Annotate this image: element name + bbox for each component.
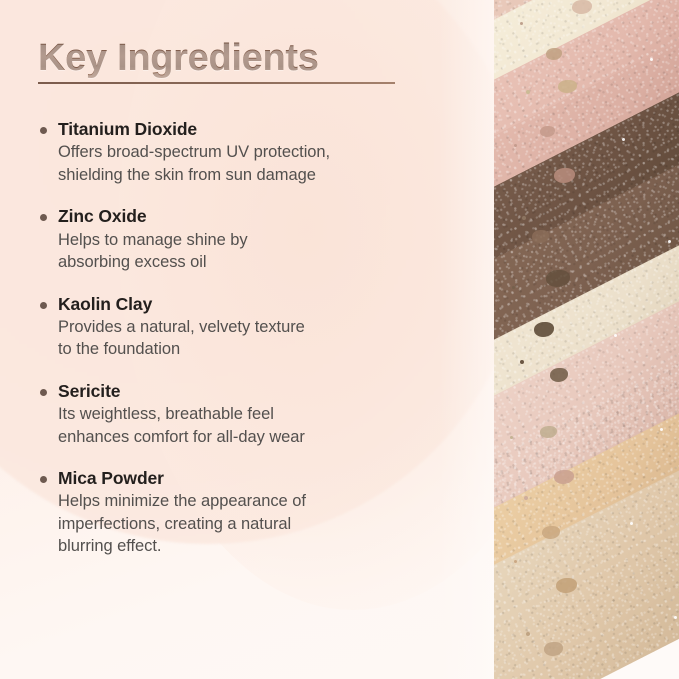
title-underline <box>38 82 395 84</box>
ingredient-description: Offers broad-spectrum UV protection, shi… <box>58 141 448 186</box>
page-title-block: Key Ingredients <box>38 38 438 84</box>
ingredient-list: Titanium Dioxide Offers broad-spectrum U… <box>38 118 448 558</box>
powder-sparkle <box>630 522 633 525</box>
bullet-icon <box>40 389 47 396</box>
bullet-icon <box>40 476 47 483</box>
powder-speck <box>520 22 523 25</box>
bullet-icon <box>40 302 47 309</box>
ingredient-name: Titanium Dioxide <box>58 118 448 140</box>
ingredient-description: Its weightless, breathable feel enhances… <box>58 403 448 448</box>
ingredient-description: Helps to manage shine by absorbing exces… <box>58 229 448 274</box>
powder-sparkle <box>650 58 653 61</box>
ingredient-description: Provides a natural, velvety texture to t… <box>58 316 448 361</box>
powder-speck <box>512 286 515 289</box>
ingredient-item-sericite: Sericite Its weightless, breathable feel… <box>38 380 448 448</box>
powder-speck <box>510 436 513 439</box>
powder-sparkle <box>622 138 625 141</box>
bullet-icon <box>40 127 47 134</box>
powder-speck <box>520 360 524 364</box>
powder-speck <box>526 632 530 636</box>
ingredient-name: Zinc Oxide <box>58 205 448 227</box>
powder-speck <box>526 90 530 94</box>
powder-swatch-photo <box>494 0 679 679</box>
powder-sparkle <box>674 616 677 619</box>
ingredient-item-kaolin-clay: Kaolin Clay Provides a natural, velvety … <box>38 293 448 361</box>
ingredient-name: Sericite <box>58 380 448 402</box>
ingredient-name: Kaolin Clay <box>58 293 448 315</box>
powder-speck <box>524 496 528 500</box>
powder-speck <box>522 216 526 220</box>
powder-sparkle <box>668 240 671 243</box>
powder-sparkle <box>660 428 663 431</box>
powder-speck <box>514 560 517 563</box>
ingredient-item-mica-powder: Mica Powder Helps minimize the appearanc… <box>38 467 448 558</box>
content-column: Key Ingredients Titanium Dioxide Offers … <box>0 0 470 679</box>
bullet-icon <box>40 214 47 221</box>
ingredient-item-zinc-oxide: Zinc Oxide Helps to manage shine by abso… <box>38 205 448 273</box>
ingredient-name: Mica Powder <box>58 467 448 489</box>
infographic-canvas: Key Ingredients Titanium Dioxide Offers … <box>0 0 679 679</box>
ingredient-description: Helps minimize the appearance of imperfe… <box>58 490 448 557</box>
powder-swatch-stack <box>494 0 679 679</box>
page-title: Key Ingredients <box>38 38 438 79</box>
ingredient-item-titanium-dioxide: Titanium Dioxide Offers broad-spectrum U… <box>38 118 448 186</box>
powder-speck <box>514 144 517 147</box>
powder-sparkle <box>614 334 617 337</box>
